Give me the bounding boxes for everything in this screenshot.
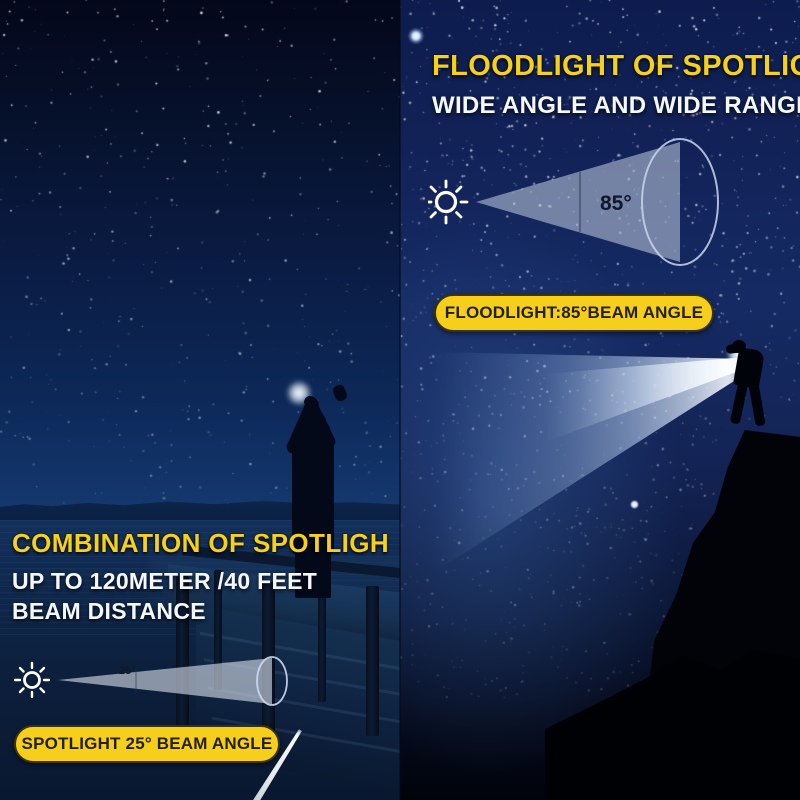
- person-silhouette-left: [262, 383, 372, 598]
- spotlight-beam-diagram: [14, 648, 314, 718]
- spotlight-cone-svg: [14, 648, 314, 718]
- figure-leg-front: [730, 381, 749, 424]
- mid-star: [630, 500, 639, 509]
- dock-post: [366, 586, 379, 736]
- bright-star: [408, 28, 424, 44]
- floodlight-cone-body: [476, 142, 680, 262]
- figure-leg-back: [748, 381, 765, 426]
- person-silhouette-right: [724, 338, 790, 438]
- spotlight-beam-angle-badge: SPOTLIGHT 25° BEAM ANGLE: [14, 725, 280, 763]
- spotlight-cone-body: [58, 658, 272, 704]
- figure-torso: [733, 347, 765, 389]
- floodlight-cone-svg: [428, 136, 728, 286]
- panel-divider: [399, 0, 401, 800]
- floodlight-subheadline: WIDE ANGLE AND WIDE RANGE: [432, 92, 800, 120]
- sun-icon: [15, 663, 49, 697]
- product-feature-graphic: 85° 25° FLOODLIGHT OF: [0, 0, 800, 800]
- sun-icon: [428, 181, 467, 223]
- floodlight-beam-angle-badge: FLOODLIGHT:85°BEAM ANGLE: [434, 294, 714, 332]
- floodlight-headline: FLOODLIGHT OF SPOTLIGHT: [432, 50, 800, 83]
- figure-hair: [298, 417, 331, 451]
- spotlight-angle-label: 25°: [119, 665, 136, 677]
- figure-hand-holding-flashlight: [331, 383, 348, 402]
- beam-distance-line-1: UP TO 120METER /40 FEET: [12, 568, 317, 595]
- floodlight-beam-diagram: [428, 136, 728, 286]
- combination-headline: COMBINATION OF SPOTLIGH: [12, 528, 389, 559]
- floodlight-angle-label: 85°: [600, 192, 632, 216]
- beam-distance-line-2: BEAM DISTANCE: [12, 598, 206, 625]
